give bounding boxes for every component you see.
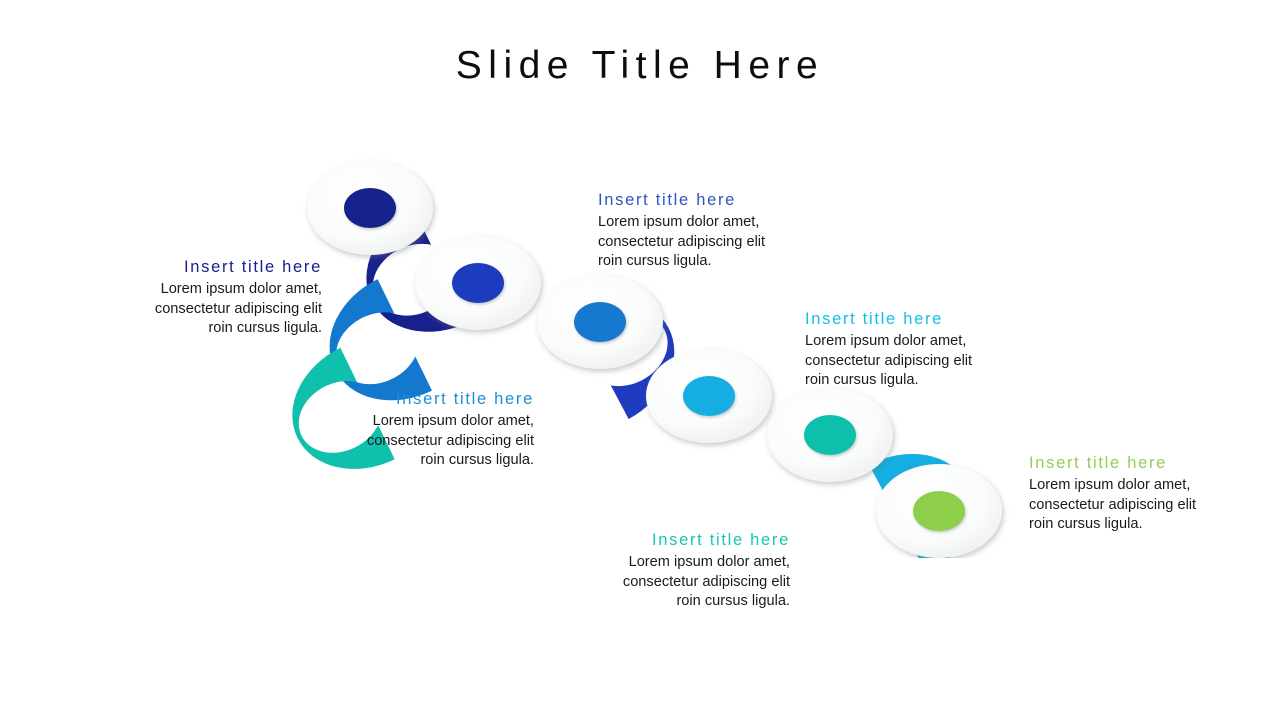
- ring-hub-6: [913, 491, 965, 531]
- callout-body-line-3: roin cursus ligula.: [578, 592, 790, 612]
- callout-body-5: Lorem ipsum dolor amet, consectetur adip…: [578, 553, 790, 612]
- callout-body-line-3: roin cursus ligula.: [805, 371, 1017, 391]
- callout-title-1: Insert title here: [110, 256, 322, 278]
- callout-body-3: Lorem ipsum dolor amet, consectetur adip…: [322, 412, 534, 471]
- ring-step-6[interactable]: [876, 464, 1020, 558]
- callout-title-4: Insert title here: [805, 308, 1017, 330]
- callout-block-2: Insert title here Lorem ipsum dolor amet…: [598, 189, 810, 272]
- callout-block-1: Insert title here Lorem ipsum dolor amet…: [110, 256, 322, 339]
- callout-body-line-1: Lorem ipsum dolor amet,: [805, 332, 1017, 352]
- callout-body-2: Lorem ipsum dolor amet, consectetur adip…: [598, 213, 810, 272]
- callout-title-3: Insert title here: [322, 388, 534, 410]
- callout-body-line-2: consectetur adipiscing elit: [578, 573, 790, 593]
- callout-body-line-1: Lorem ipsum dolor amet,: [110, 280, 322, 300]
- callout-body-line-2: consectetur adipiscing elit: [598, 233, 810, 253]
- ring-hub-4: [683, 376, 735, 416]
- callout-body-line-3: roin cursus ligula.: [1029, 515, 1241, 535]
- callout-body-line-3: roin cursus ligula.: [110, 319, 322, 339]
- callout-body-line-3: roin cursus ligula.: [598, 252, 810, 272]
- ring-hub-5: [804, 415, 856, 455]
- callout-body-6: Lorem ipsum dolor amet, consectetur adip…: [1029, 476, 1241, 535]
- callout-body-line-1: Lorem ipsum dolor amet,: [322, 412, 534, 432]
- ring-hub-2: [452, 263, 504, 303]
- callout-body-4: Lorem ipsum dolor amet, consectetur adip…: [805, 332, 1017, 391]
- callout-body-line-1: Lorem ipsum dolor amet,: [598, 213, 810, 233]
- callout-body-line-2: consectetur adipiscing elit: [805, 352, 1017, 372]
- page-title: Slide Title Here: [0, 44, 1280, 88]
- callout-block-5: Insert title here Lorem ipsum dolor amet…: [578, 529, 790, 612]
- callout-title-6: Insert title here: [1029, 452, 1241, 474]
- callout-block-4: Insert title here Lorem ipsum dolor amet…: [805, 308, 1017, 391]
- callout-title-5: Insert title here: [578, 529, 790, 551]
- callout-body-1: Lorem ipsum dolor amet, consectetur adip…: [110, 280, 322, 339]
- callout-body-line-2: consectetur adipiscing elit: [110, 300, 322, 320]
- callout-title-2: Insert title here: [598, 189, 810, 211]
- callout-body-line-3: roin cursus ligula.: [322, 451, 534, 471]
- slide-canvas: Slide Title Here: [0, 0, 1280, 720]
- callout-body-line-2: consectetur adipiscing elit: [322, 432, 534, 452]
- callout-body-line-1: Lorem ipsum dolor amet,: [1029, 476, 1241, 496]
- callout-body-line-1: Lorem ipsum dolor amet,: [578, 553, 790, 573]
- callout-body-line-2: consectetur adipiscing elit: [1029, 496, 1241, 516]
- ring-hub-1: [344, 188, 396, 228]
- ring-hub-3: [574, 302, 626, 342]
- callout-block-6: Insert title here Lorem ipsum dolor amet…: [1029, 452, 1241, 535]
- callout-block-3: Insert title here Lorem ipsum dolor amet…: [322, 388, 534, 471]
